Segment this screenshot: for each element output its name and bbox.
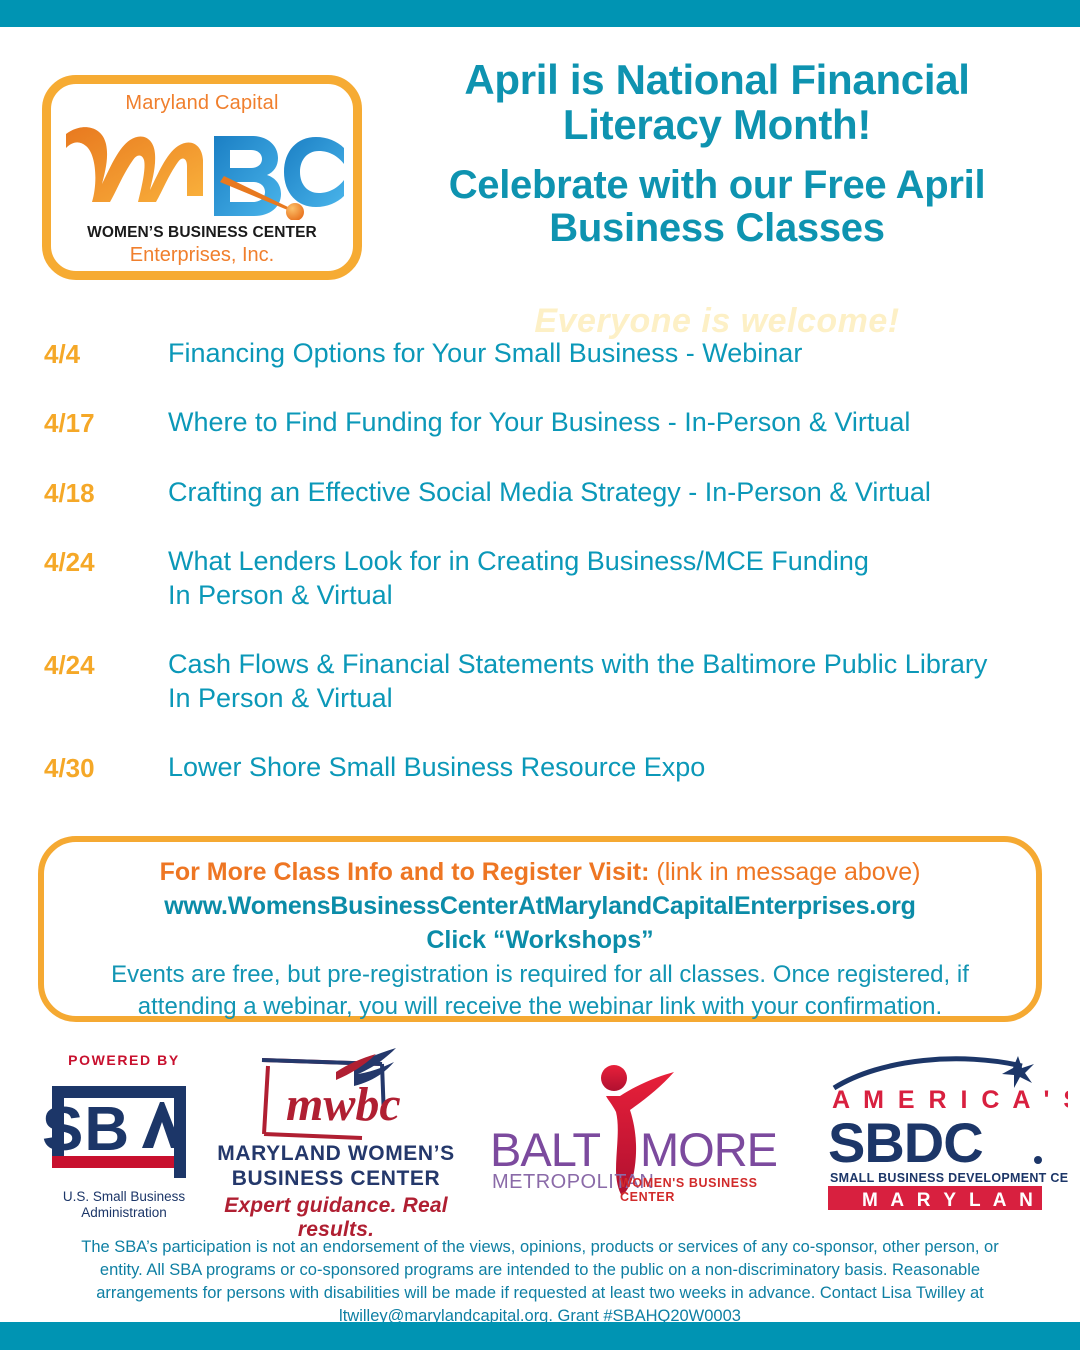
class-row: 4/4 Financing Options for Your Small Bus… [0, 336, 1080, 371]
wbc-wordmark-icon [51, 110, 353, 226]
class-title: What Lenders Look for in Creating Busine… [168, 546, 869, 576]
class-title: Cash Flows & Financial Statements with t… [168, 649, 987, 679]
headline-primary: April is National Financial Literacy Mon… [372, 57, 1062, 148]
svg-text:SB: SB [42, 1095, 130, 1164]
register-visit-line: For More Class Info and to Register Visi… [62, 856, 1018, 890]
wbc-logo-mid-text: WOMEN’S BUSINESS CENTER [51, 224, 353, 242]
class-date: 4/30 [44, 750, 168, 785]
headline-line-1: April is National Financial [372, 57, 1062, 102]
class-schedule-list: 4/4 Financing Options for Your Small Bus… [0, 336, 1080, 819]
class-title-wrap: Financing Options for Your Small Busines… [168, 336, 1050, 371]
registration-info-box: For More Class Info and to Register Visi… [38, 836, 1042, 1022]
mwbc-logo: mwbc MARYLAND WOMEN’S BUSINESS CENTER Ex… [186, 1046, 486, 1236]
headline-line-3: Celebrate with our Free April [372, 164, 1062, 207]
baltimore-word-right: MORE [640, 1124, 777, 1176]
baltimore-mwbc-logo: BALT MORE METROPOLITAN WOMEN'S BUSINESS … [492, 1046, 792, 1236]
mwbc-name-line2: BUSINESS CENTER [186, 1167, 486, 1192]
class-date: 4/18 [44, 475, 168, 510]
sbdc-logo: A M E R I C A ' S SBDC SMALL BUSINESS DE… [822, 1046, 1068, 1236]
class-title-wrap: Crafting an Effective Social Media Strat… [168, 475, 1050, 510]
sponsor-logo-row: POWERED BY SB U.S. Small Business Admini… [0, 1046, 1080, 1236]
class-title: Crafting an Effective Social Media Strat… [168, 477, 931, 507]
sba-disclaimer: The SBA’s participation is not an endors… [60, 1236, 1020, 1328]
wbc-logo-bottom-text: Enterprises, Inc. [51, 244, 353, 267]
header-section: Maryland Capital [0, 27, 1080, 322]
baltimore-word-left: BALT [492, 1124, 600, 1176]
sbdc-americas: A M E R I C A ' S [832, 1086, 1068, 1114]
mwbc-name-line1: MARYLAND WOMEN’S [186, 1142, 486, 1167]
class-subtitle: In Person & Virtual [168, 578, 1050, 613]
headline-secondary: Celebrate with our Free April Business C… [372, 164, 1062, 250]
top-accent-bar [0, 0, 1080, 27]
class-title-wrap: What Lenders Look for in Creating Busine… [168, 544, 1050, 613]
flyer-canvas: Maryland Capital [0, 0, 1080, 1350]
click-workshops-instruction: Click “Workshops” [62, 924, 1018, 958]
class-row: 4/18 Crafting an Effective Social Media … [0, 475, 1080, 510]
baltimore-subtitle: WOMEN'S BUSINESS CENTER [620, 1176, 792, 1204]
bottom-accent-bar [0, 1322, 1080, 1350]
class-title: Lower Shore Small Business Resource Expo [168, 752, 705, 782]
class-title: Financing Options for Your Small Busines… [168, 338, 802, 368]
mwbc-name: MARYLAND WOMEN’S BUSINESS CENTER [186, 1142, 486, 1192]
class-date: 4/24 [44, 544, 168, 579]
class-date: 4/4 [44, 336, 168, 371]
class-row: 4/24 What Lenders Look for in Creating B… [0, 544, 1080, 613]
class-subtitle: In Person & Virtual [168, 681, 1050, 716]
sbdc-expansion: SMALL BUSINESS DEVELOPMENT CENTERS [830, 1171, 1068, 1185]
mwbc-tagline: Expert guidance. Real results. [186, 1194, 486, 1242]
class-row: 4/24 Cash Flows & Financial Statements w… [0, 647, 1080, 716]
register-visit-note: (link in message above) [656, 858, 920, 886]
class-title: Where to Find Funding for Your Business … [168, 407, 910, 437]
headline-line-2: Literacy Month! [372, 102, 1062, 147]
sbdc-state: M A R Y L A N D [862, 1190, 1064, 1210]
wbc-logo: Maryland Capital [42, 75, 362, 280]
mwbc-mark-icon: mwbc [186, 1048, 486, 1148]
class-row: 4/30 Lower Shore Small Business Resource… [0, 750, 1080, 785]
registration-note: Events are free, but pre-registration is… [62, 959, 1018, 1022]
class-date: 4/17 [44, 405, 168, 440]
class-title-wrap: Where to Find Funding for Your Business … [168, 405, 1050, 440]
class-row: 4/17 Where to Find Funding for Your Busi… [0, 405, 1080, 440]
class-date: 4/24 [44, 647, 168, 682]
sbdc-acronym: SBDC [828, 1111, 983, 1174]
headline-block: April is National Financial Literacy Mon… [372, 57, 1062, 250]
website-url[interactable]: www.WomensBusinessCenterAtMarylandCapita… [62, 890, 1018, 924]
headline-line-4: Business Classes [372, 207, 1062, 250]
register-visit-label: For More Class Info and to Register Visi… [160, 858, 657, 886]
class-title-wrap: Lower Shore Small Business Resource Expo [168, 750, 1050, 785]
mwbc-script-text: mwbc [286, 1078, 401, 1131]
sbdc-mark-icon: A M E R I C A ' S SBDC SMALL BUSINESS DE… [822, 1050, 1068, 1210]
class-title-wrap: Cash Flows & Financial Statements with t… [168, 647, 1050, 716]
